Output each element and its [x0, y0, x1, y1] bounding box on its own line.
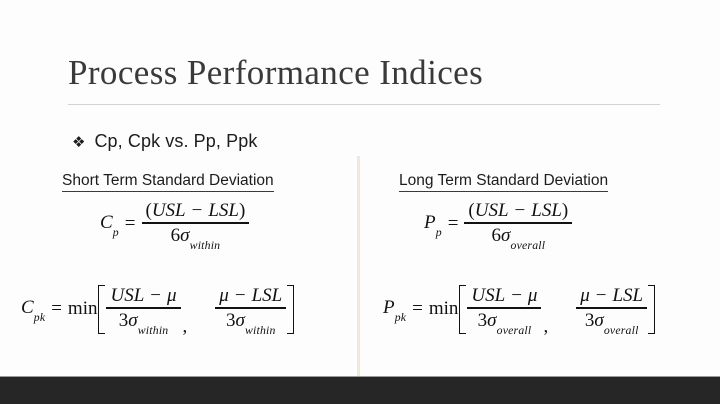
slide-footer-bar: [0, 376, 720, 404]
formula-pp-equals: =: [442, 213, 465, 235]
formula-ppk-bracket-close: [648, 285, 655, 334]
formula-ppk-equals: =: [406, 298, 429, 320]
formula-ppk-bracket-open: [459, 285, 466, 334]
formula-cp-fraction: (USL−LSL) 6σwithin: [142, 200, 250, 249]
formula-pp-denominator: 6σoverall: [488, 224, 550, 249]
formula-pp-lhs: Pp: [424, 212, 442, 237]
page-title: Process Performance Indices: [68, 53, 483, 93]
left-column-header: Short Term Standard Deviation: [62, 172, 274, 192]
formula-ppk-min-label: min: [429, 298, 459, 320]
diamond-bullet-icon: ❖: [72, 135, 85, 150]
formula-cpk-term1: USL−μ 3σwithin: [106, 285, 180, 334]
formula-ppk-term1: USL−μ 3σoverall: [467, 285, 541, 334]
formula-pp: Pp = (USL−LSL) 6σoverall: [424, 200, 572, 249]
formula-cpk-lhs: Cpk: [21, 297, 45, 322]
bullet-label: Cp, Cpk vs. Pp, Ppk: [94, 131, 257, 152]
bullet-row: ❖ Cp, Cpk vs. Pp, Ppk: [72, 131, 257, 152]
formula-cpk-bracket-close: [287, 285, 294, 334]
formula-ppk-term2: μ−LSL 3σoverall: [576, 285, 647, 334]
title-divider-rule: [68, 104, 660, 105]
formula-ppk: Ppk = min USL−μ 3σoverall , μ−LSL 3σover…: [383, 285, 656, 334]
formula-cpk: Cpk = min USL−μ 3σwithin , μ−LSL 3σwithi…: [21, 285, 295, 334]
formula-cpk-min-label: min: [68, 298, 98, 320]
formula-cp: Cp = (USL−LSL) 6σwithin: [100, 200, 249, 249]
formula-ppk-lhs: Ppk: [383, 297, 406, 322]
formula-cpk-comma: ,: [181, 316, 190, 338]
formula-cp-equals: =: [119, 213, 142, 235]
formula-cp-lhs: Cp: [100, 212, 119, 237]
formula-cpk-bracket-open: [98, 285, 105, 334]
formula-ppk-comma: ,: [541, 316, 550, 338]
formula-cp-numerator: (USL−LSL): [142, 200, 250, 222]
column-divider: [357, 156, 360, 376]
right-column-header: Long Term Standard Deviation: [399, 172, 608, 192]
slide-canvas: Process Performance Indices ❖ Cp, Cpk vs…: [0, 0, 720, 404]
formula-pp-numerator: (USL−LSL): [464, 200, 572, 222]
formula-cpk-term2: μ−LSL 3σwithin: [215, 285, 286, 334]
formula-pp-fraction: (USL−LSL) 6σoverall: [464, 200, 572, 249]
formula-cpk-equals: =: [45, 298, 68, 320]
formula-cp-denominator: 6σwithin: [167, 224, 225, 249]
